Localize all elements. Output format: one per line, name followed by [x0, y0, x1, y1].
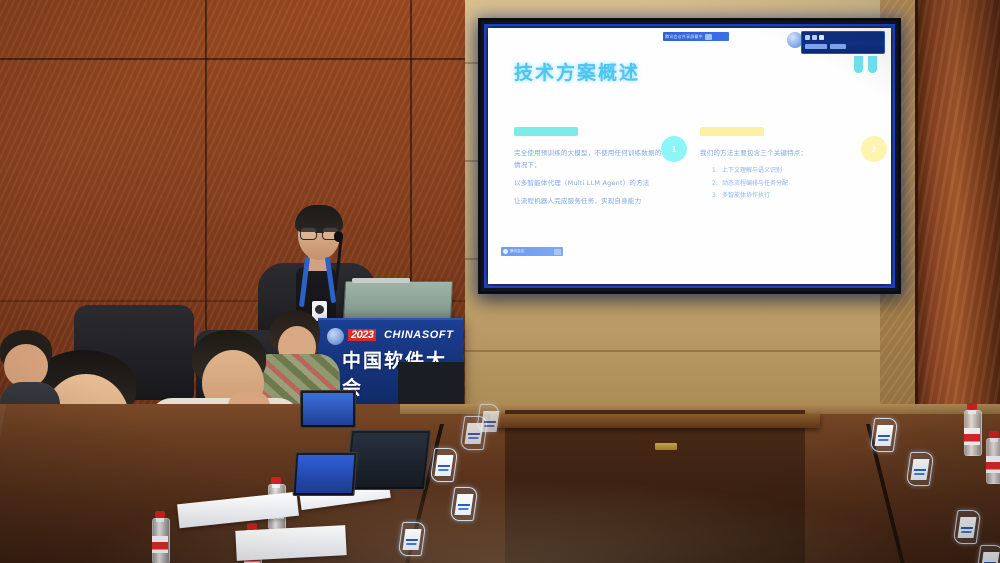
list-item-label: 多智能体协作执行: [722, 192, 770, 199]
slide-paragraph: 我们的方法主要包含三个关键特点：: [700, 147, 850, 159]
audience-laptop[interactable]: [300, 390, 356, 428]
table-rim: [490, 414, 820, 428]
slide-column-left: 完全使用预训练的大模型，不使用任何训练数据的情况下， 以多智能体代理（Multi…: [514, 127, 664, 213]
slide-title: 技术方案概述: [514, 58, 640, 85]
water-bottle: [152, 512, 168, 563]
podium-laptop[interactable]: [343, 281, 453, 323]
slide-paragraph: 以多智能体代理（Multi LLM Agent）的方法: [514, 177, 664, 189]
microphone-icon: [334, 231, 343, 242]
maximize-icon[interactable]: [812, 35, 817, 40]
name-card-holder: [478, 404, 498, 432]
list-item: 1.上下文理解与语义识别: [712, 165, 850, 178]
list-item: 2.动态流程编排与任务分配: [712, 178, 850, 191]
wall-seam: [465, 350, 885, 352]
list-item-number: 3.: [712, 190, 722, 203]
name-card-holder: [955, 510, 979, 544]
presentation-display[interactable]: 腾讯会议共享屏幕中 技术方案概述: [478, 18, 901, 294]
name-card-holder: [908, 452, 932, 486]
taskbar-button[interactable]: [554, 249, 561, 255]
name-card-holder: [452, 487, 476, 521]
app-icon: [503, 249, 508, 254]
quote-marks-icon: [854, 56, 877, 73]
table-plaque: [655, 443, 677, 450]
water-bottle: [964, 404, 980, 456]
list-item-label: 上下文理解与语义识别: [722, 167, 782, 174]
meeting-window-overlay[interactable]: [801, 31, 885, 54]
taskbar-label: 腾讯会议: [510, 249, 524, 254]
name-card-holder: [978, 545, 1000, 563]
banner-brand: CHINASOFT: [384, 329, 454, 341]
column-cap-bar: [514, 127, 578, 136]
slide-taskbar[interactable]: 腾讯会议: [501, 247, 563, 256]
name-card-holder: [400, 522, 424, 556]
wall-seam: [0, 58, 470, 60]
paper-document: [235, 525, 346, 561]
podium-side-panel: [398, 362, 464, 406]
slide-badge-2: 2: [861, 136, 887, 162]
audience-laptop[interactable]: [292, 452, 357, 496]
slide-numbered-list: 1.上下文理解与语义识别 2.动态流程编排与任务分配 3.多智能体协作执行: [700, 165, 850, 203]
slide-column-right: 我们的方法主要包含三个关键特点： 1.上下文理解与语义识别 2.动态流程编排与任…: [700, 127, 850, 203]
table-inner-panel: [505, 410, 805, 563]
screen-share-label: 腾讯会议共享屏幕中: [665, 34, 703, 40]
audience-laptop[interactable]: [345, 430, 431, 490]
minimize-icon[interactable]: [805, 35, 810, 40]
window-titlebar: [802, 32, 884, 42]
podium-laptop-hinge: [352, 278, 410, 283]
slide-paragraph: 让流程机器人完成服务任务，实现自身能力: [514, 195, 664, 207]
slide-badge-1: 1: [661, 136, 687, 162]
banner-year: 2023: [348, 329, 376, 341]
list-item-label: 动态流程编排与任务分配: [722, 180, 788, 187]
screen-share-icon: [705, 34, 712, 40]
list-item-number: 1.: [712, 165, 722, 178]
column-cap-bar: [700, 127, 764, 136]
name-card-holder: [872, 418, 896, 452]
water-bottle: [986, 432, 1000, 484]
conference-room-scene: 腾讯会议共享屏幕中 技术方案概述: [0, 0, 1000, 563]
screen-share-notification[interactable]: 腾讯会议共享屏幕中: [663, 32, 729, 41]
status-label-chip: [830, 44, 846, 49]
slide-surface: 腾讯会议共享屏幕中 技术方案概述: [488, 28, 891, 284]
window-statusbar: [802, 42, 884, 51]
name-card-holder: [432, 448, 456, 482]
list-item-number: 2.: [712, 178, 722, 191]
close-icon[interactable]: [819, 35, 824, 40]
list-item: 3.多智能体协作执行: [712, 190, 850, 203]
menu-label-chip: [805, 44, 827, 49]
wall-pillar-right: [915, 0, 1000, 440]
slide-paragraph: 完全使用预训练的大模型，不使用任何训练数据的情况下，: [514, 147, 664, 171]
